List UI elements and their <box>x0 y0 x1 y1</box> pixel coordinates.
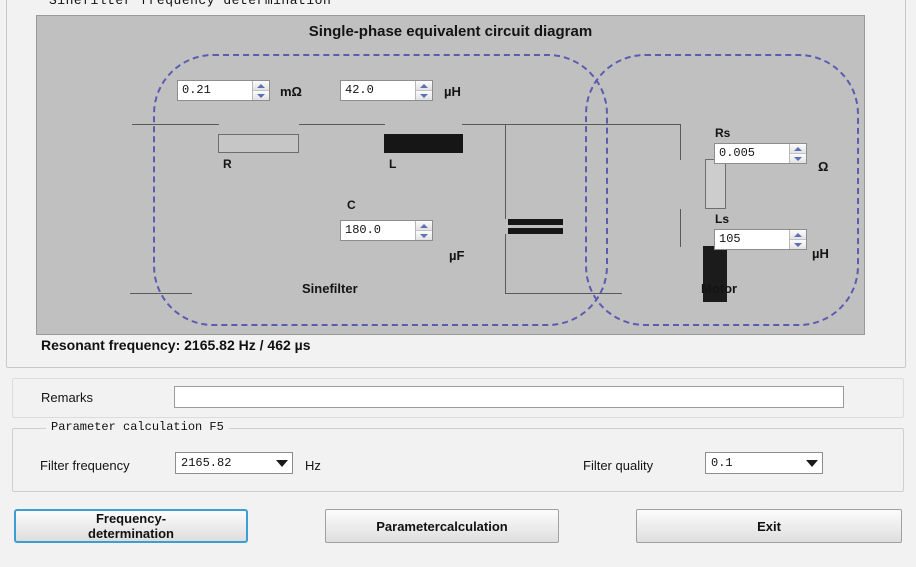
wire-bottom-right <box>505 293 622 294</box>
triangle-up-icon <box>794 233 802 237</box>
frequency-determination-button[interactable]: Frequency- determination <box>14 509 248 543</box>
spinbox-c-buttons[interactable] <box>415 221 432 240</box>
spinbox-r[interactable]: 0.21 <box>177 80 270 101</box>
parameter-calculation-button[interactable]: Parametercalculation <box>325 509 559 543</box>
filter-frequency-unit: Hz <box>305 458 321 473</box>
chevron-down-icon[interactable] <box>802 460 822 467</box>
spinbox-r-down-button[interactable] <box>253 91 269 100</box>
label-zone-motor: Motor <box>701 281 737 296</box>
spinbox-ls-down-button[interactable] <box>790 240 806 249</box>
unit-r: mΩ <box>280 84 302 99</box>
label-ls: Ls <box>715 212 729 226</box>
wire-rs-to-ls <box>680 209 681 247</box>
component-resistor-r <box>218 134 299 153</box>
label-r: R <box>223 157 232 171</box>
spinbox-ls-up-button[interactable] <box>790 230 806 240</box>
spinbox-r-up-button[interactable] <box>253 81 269 91</box>
filter-quality-value[interactable]: 0.1 <box>706 456 802 470</box>
unit-rs: Ω <box>818 159 828 174</box>
spinbox-rs-value[interactable]: 0.005 <box>715 144 789 163</box>
component-resistor-rs <box>705 159 726 209</box>
spinbox-rs-up-button[interactable] <box>790 144 806 154</box>
unit-ls: µH <box>812 246 829 261</box>
spinbox-r-buttons[interactable] <box>252 81 269 100</box>
sinefilter-group-box: Sinefilter frequency determination Singl… <box>6 0 906 368</box>
label-l: L <box>389 157 396 171</box>
component-capacitor-plate-top <box>508 219 563 225</box>
remarks-input[interactable] <box>174 386 844 408</box>
spinbox-rs-down-button[interactable] <box>790 154 806 163</box>
chevron-down-icon[interactable] <box>272 460 292 467</box>
remarks-label: Remarks <box>41 390 93 405</box>
spinbox-c-value[interactable]: 180.0 <box>341 221 415 240</box>
wire-top-left <box>132 124 219 125</box>
unit-c: µF <box>449 248 464 263</box>
circuit-diagram-canvas: Single-phase equivalent circuit diagram … <box>36 15 865 335</box>
spinbox-l-value[interactable]: 42.0 <box>341 81 415 100</box>
triangle-down-icon <box>257 94 265 98</box>
spinbox-rs[interactable]: 0.005 <box>714 143 807 164</box>
wire-cap-bottom <box>505 234 506 294</box>
wire-bottom-left <box>130 293 192 294</box>
triangle-down-icon <box>420 94 428 98</box>
remarks-panel: Remarks <box>12 378 904 418</box>
spinbox-l-down-button[interactable] <box>416 91 432 100</box>
parameter-calculation-group-title: Parameter calculation F5 <box>46 420 229 434</box>
label-zone-sinefilter: Sinefilter <box>302 281 358 296</box>
filter-quality-label: Filter quality <box>583 458 653 473</box>
label-rs: Rs <box>715 126 730 140</box>
wire-r-to-l <box>299 124 385 125</box>
spinbox-ls-value[interactable]: 105 <box>715 230 789 249</box>
diagram-title: Single-phase equivalent circuit diagram <box>37 23 864 40</box>
exit-button[interactable]: Exit <box>636 509 902 543</box>
wire-l-to-node <box>462 124 681 125</box>
wire-cap-top <box>505 124 506 219</box>
triangle-down-icon <box>794 243 802 247</box>
triangle-up-icon <box>257 84 265 88</box>
parameter-calculation-group-box: Parameter calculation F5 Filter frequenc… <box>12 428 904 492</box>
sinefilter-group-title: Sinefilter frequency determination <box>45 0 335 8</box>
component-inductor-l <box>384 134 463 153</box>
label-c: C <box>347 198 356 212</box>
filter-frequency-value[interactable]: 2165.82 <box>176 456 272 470</box>
spinbox-c[interactable]: 180.0 <box>340 220 433 241</box>
filter-quality-combobox[interactable]: 0.1 <box>705 452 823 474</box>
component-capacitor-plate-bottom <box>508 228 563 234</box>
spinbox-c-down-button[interactable] <box>416 231 432 240</box>
spinbox-l[interactable]: 42.0 <box>340 80 433 101</box>
triangle-down-icon <box>420 234 428 238</box>
triangle-up-icon <box>794 147 802 151</box>
wire-node-to-rs <box>680 124 681 160</box>
spinbox-ls[interactable]: 105 <box>714 229 807 250</box>
spinbox-rs-buttons[interactable] <box>789 144 806 163</box>
unit-l: µH <box>444 84 461 99</box>
triangle-up-icon <box>420 84 428 88</box>
filter-frequency-combobox[interactable]: 2165.82 <box>175 452 293 474</box>
triangle-down-icon <box>794 157 802 161</box>
resonant-frequency-text: Resonant frequency: 2165.82 Hz / 462 µs <box>41 337 311 353</box>
spinbox-c-up-button[interactable] <box>416 221 432 231</box>
spinbox-ls-buttons[interactable] <box>789 230 806 249</box>
triangle-up-icon <box>420 224 428 228</box>
spinbox-l-buttons[interactable] <box>415 81 432 100</box>
spinbox-r-value[interactable]: 0.21 <box>178 81 252 100</box>
spinbox-l-up-button[interactable] <box>416 81 432 91</box>
filter-frequency-label: Filter frequency <box>40 458 130 473</box>
